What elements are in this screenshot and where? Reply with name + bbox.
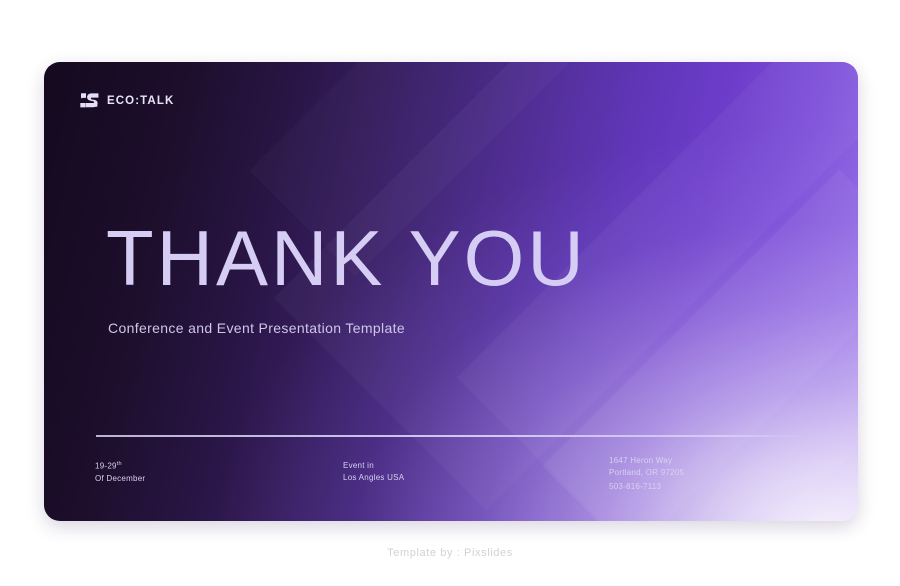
footer-address-street: 1647 Heron Way [609, 455, 684, 467]
footer-phone: 503-816-7113 [609, 481, 661, 493]
page-subtitle: Conference and Event Presentation Templa… [108, 320, 405, 336]
footer-address-block: 1647 Heron Way Portland, OR 97205 [609, 455, 684, 480]
eco-talk-logo-icon [80, 93, 99, 108]
footer-date-block: 19-29th Of December [95, 460, 145, 485]
brand-logo[interactable]: ECO:TALK [80, 93, 174, 108]
footer-address-city-state: Portland, OR 97205 [609, 467, 684, 479]
footer-divider [96, 435, 806, 437]
decorative-diagonal-band-3 [542, 169, 858, 521]
footer-place-block: Event in Los Angles USA [343, 460, 404, 485]
footer-place-city: Los Angles USA [343, 472, 404, 484]
footer-place-label: Event in [343, 460, 404, 472]
template-credit-caption: Template by : Pixslides [0, 547, 900, 559]
page-title: THANK YOU [106, 219, 587, 297]
footer-date-line: 19-29th [95, 460, 145, 473]
presentation-slide: ECO:TALK THANK YOU Conference and Event … [44, 62, 858, 521]
footer-date-range: 19-29 [95, 462, 117, 471]
page-root: ECO:TALK THANK YOU Conference and Event … [0, 0, 900, 586]
brand-logo-text: ECO:TALK [107, 95, 174, 107]
footer-date-month: Of December [95, 473, 145, 485]
footer-date-ordinal: th [117, 461, 122, 467]
